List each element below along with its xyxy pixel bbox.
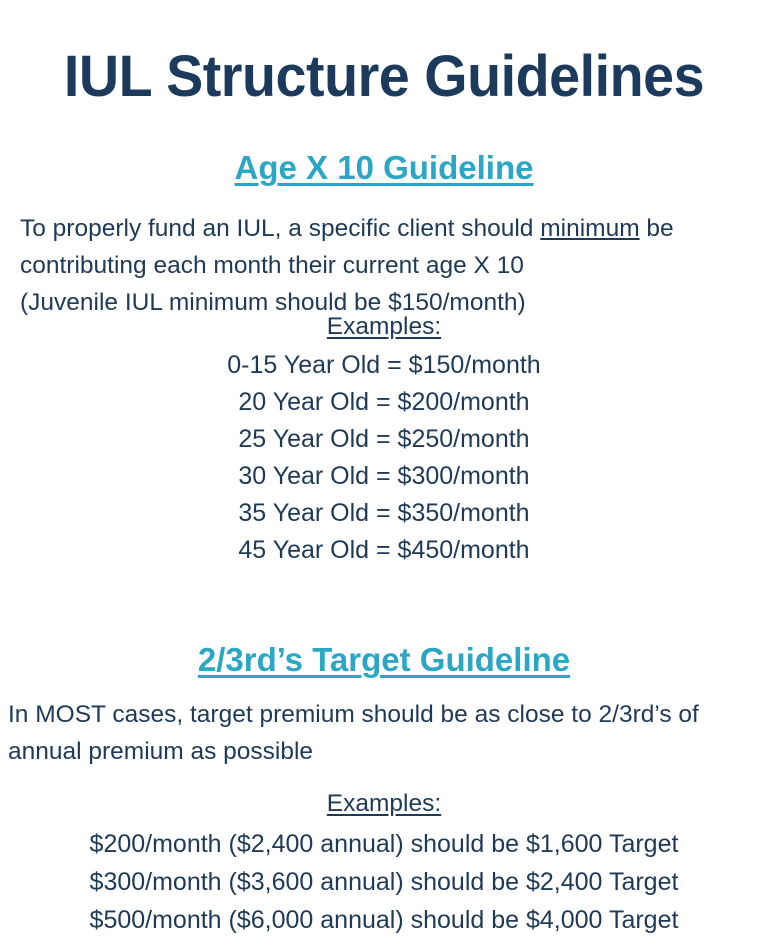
list-item: 45 Year Old = $450/month: [0, 532, 768, 569]
page-title: IUL Structure Guidelines: [15, 47, 752, 108]
list-item: $500/month ($6,000 annual) should be $4,…: [0, 901, 768, 939]
examples-block-target-guideline: Examples: $200/month ($2,400 annual) sho…: [0, 787, 768, 939]
slide-canvas: IUL Structure Guidelines Age X 10 Guidel…: [0, 0, 768, 951]
section-heading-target-guideline: 2/3rd’s Target Guideline: [0, 641, 768, 679]
list-item: 25 Year Old = $250/month: [0, 421, 768, 458]
list-item: $300/month ($3,600 annual) should be $2,…: [0, 863, 768, 901]
examples-list-age: 0-15 Year Old = $150/month 20 Year Old =…: [0, 347, 768, 569]
list-item: 30 Year Old = $300/month: [0, 458, 768, 495]
examples-label-target: Examples:: [0, 787, 768, 821]
emphasis-minimum: minimum: [540, 215, 639, 242]
paragraph-age-guideline: To properly fund an IUL, a specific clie…: [20, 210, 755, 321]
section-heading-age-guideline: Age X 10 Guideline: [0, 149, 768, 187]
paragraph-age-text-before: To properly fund an IUL, a specific clie…: [20, 215, 540, 242]
examples-list-target: $200/month ($2,400 annual) should be $1,…: [0, 825, 768, 939]
paragraph-target-guideline: In MOST cases, target premium should be …: [8, 696, 758, 770]
examples-block-age-guideline: Examples: 0-15 Year Old = $150/month 20 …: [0, 310, 768, 569]
list-item: $200/month ($2,400 annual) should be $1,…: [0, 825, 768, 863]
list-item: 0-15 Year Old = $150/month: [0, 347, 768, 384]
list-item: 35 Year Old = $350/month: [0, 495, 768, 532]
list-item: 20 Year Old = $200/month: [0, 384, 768, 421]
examples-label-age: Examples:: [0, 310, 768, 344]
